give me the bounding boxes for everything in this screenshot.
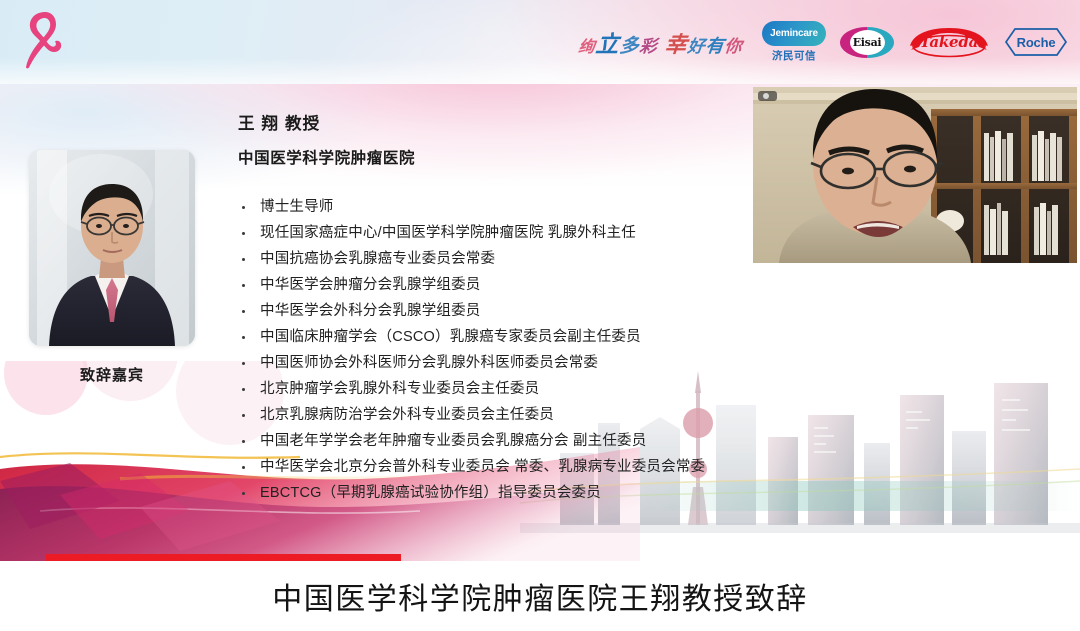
speaker-portrait-photo bbox=[29, 150, 195, 346]
sponsor-logo-takeda: Takeda bbox=[908, 25, 990, 59]
list-item: 中国医师协会外科医师分会乳腺外科医师委员会常委 bbox=[238, 350, 938, 376]
list-item: 中华医学会北京分会普外科专业委员会 常委、乳腺病专业委员会常委 bbox=[238, 454, 938, 480]
webinar-slide-stage: 绚 立 多 彩 幸 好 有 你 Jemincare 济民可信 Eisai bbox=[0, 0, 1080, 631]
header-band: 绚 立 多 彩 幸 好 有 你 Jemincare 济民可信 Eisai bbox=[0, 0, 1080, 84]
jemincare-pill: Jemincare bbox=[762, 21, 826, 46]
slogan-char-5: 幸 bbox=[663, 27, 688, 59]
camera-icon bbox=[763, 93, 769, 99]
red-accent-bar bbox=[46, 554, 401, 561]
list-item: 北京乳腺病防治学会外科专业委员会主任委员 bbox=[238, 402, 938, 428]
video-source-badge bbox=[758, 91, 777, 101]
list-item: 中华医学会外科分会乳腺学组委员 bbox=[238, 298, 938, 324]
slogan-char-6: 好 bbox=[686, 32, 706, 57]
live-video-feed[interactable] bbox=[753, 87, 1077, 263]
pink-ribbon-icon bbox=[22, 10, 64, 70]
sponsor-logo-strip: 绚 立 多 彩 幸 好 有 你 Jemincare 济民可信 Eisai bbox=[579, 0, 1068, 84]
slogan-char-4: 彩 bbox=[638, 32, 658, 57]
jemincare-chinese-label: 济民可信 bbox=[772, 48, 816, 63]
bottom-caption-bar: 中国医学科学院肿瘤医院王翔教授致辞 bbox=[0, 561, 1080, 631]
sponsor-logo-roche: Roche bbox=[1004, 27, 1068, 57]
eisai-label: Eisai bbox=[853, 36, 882, 49]
list-item: 中国老年学学会老年肿瘤专业委员会乳腺癌分会 副主任委员 bbox=[238, 428, 938, 454]
roche-label: Roche bbox=[1017, 35, 1056, 50]
list-item: EBCTCG（早期乳腺癌试验协作组）指导委员会委员 bbox=[238, 480, 938, 506]
portrait-caption: 致辞嘉宾 bbox=[29, 364, 195, 385]
slogan-char-2: 立 bbox=[594, 25, 621, 59]
slogan-char-7: 有 bbox=[704, 32, 725, 58]
eisai-inner-disc: Eisai bbox=[850, 30, 885, 55]
list-item: 中华医学会肿瘤分会乳腺学组委员 bbox=[238, 272, 938, 298]
slogan-char-1: 绚 bbox=[577, 33, 596, 57]
list-item: 北京肿瘤学会乳腺外科专业委员会主任委员 bbox=[238, 376, 938, 402]
campaign-slogan: 绚 立 多 彩 幸 好 有 你 bbox=[577, 25, 744, 59]
speaker-portrait-card: 致辞嘉宾 bbox=[29, 150, 195, 385]
slogan-char-3: 多 bbox=[618, 31, 640, 58]
takeda-label: Takeda bbox=[920, 33, 978, 51]
slogan-char-8: 你 bbox=[723, 32, 743, 57]
bottom-caption-text: 中国医学科学院肿瘤医院王翔教授致辞 bbox=[272, 574, 808, 618]
sponsor-logo-eisai: Eisai bbox=[840, 27, 894, 58]
sponsor-logo-jemincare: Jemincare 济民可信 bbox=[762, 21, 826, 63]
jemincare-latin-label: Jemincare bbox=[770, 28, 818, 39]
presentation-slide: 致辞嘉宾 王 翔 教授 中国医学科学院肿瘤医院 博士生导师 现任国家癌症中心/中… bbox=[0, 84, 1080, 561]
list-item: 中国临床肿瘤学会（CSCO）乳腺癌专家委员会副主任委员 bbox=[238, 324, 938, 350]
